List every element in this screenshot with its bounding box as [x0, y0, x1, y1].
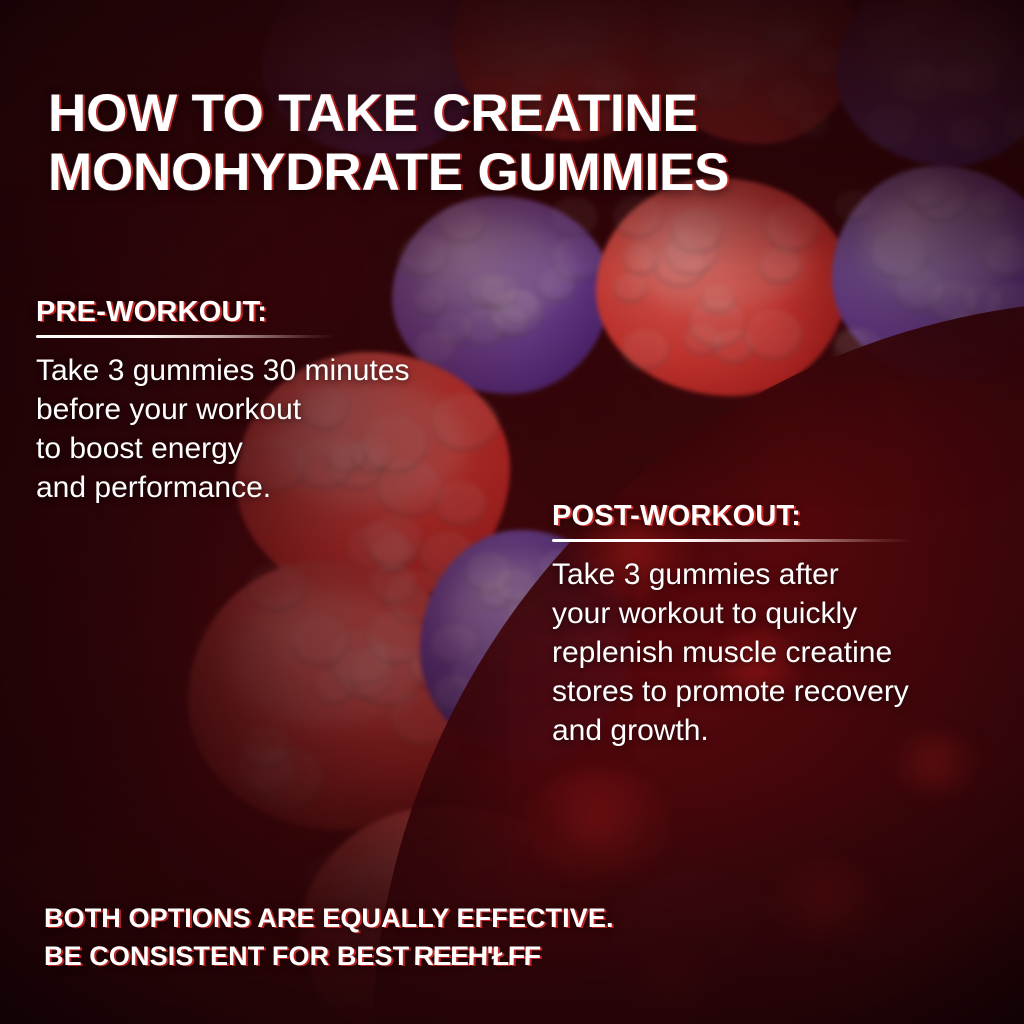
pre-workout-body-line: to boost energy — [36, 429, 536, 468]
pre-workout-body-line: Take 3 gummies 30 minutes — [36, 351, 536, 390]
post-workout-body-line: your workout to quickly — [552, 594, 1022, 633]
footer-note: BOTH OPTIONS ARE EQUALLY EFFECTIVE. BE C… — [44, 900, 1004, 976]
post-workout-heading: POST-WORKOUT: — [552, 500, 1022, 533]
footer-line-2-prefix: BE CONSISTENT FOR BEST — [44, 941, 417, 971]
pre-workout-underline — [36, 335, 336, 338]
pre-workout-block: PRE-WORKOUT: Take 3 gummies 30 minutes b… — [36, 296, 536, 507]
post-workout-body-line: stores to promote recovery — [552, 672, 1022, 711]
title-line-2: MONOHYDRATE GUMMIES — [48, 143, 928, 202]
title-line-1: HOW TO TAKE CREATINE — [48, 84, 928, 143]
poster-content: HOW TO TAKE CREATINE MONOHYDRATE GUMMIES… — [0, 0, 1024, 1024]
poster-canvas: HOW TO TAKE CREATINE MONOHYDRATE GUMMIES… — [0, 0, 1024, 1024]
footer-line-2: BE CONSISTENT FOR BEST REEH'ŁFF — [44, 938, 1004, 976]
poster-title: HOW TO TAKE CREATINE MONOHYDRATE GUMMIES — [48, 84, 928, 203]
post-workout-underline — [552, 539, 914, 542]
pre-workout-heading: PRE-WORKOUT: — [36, 296, 536, 329]
footer-line-1: BOTH OPTIONS ARE EQUALLY EFFECTIVE. — [44, 900, 1004, 938]
footer-garbled-word: REEH'ŁFF — [413, 938, 540, 976]
post-workout-block: POST-WORKOUT: Take 3 gummies after your … — [552, 500, 1022, 750]
post-workout-body-line: Take 3 gummies after — [552, 555, 1022, 594]
pre-workout-body-line: and performance. — [36, 468, 536, 507]
post-workout-body-line: replenish muscle creatine — [552, 633, 1022, 672]
pre-workout-body-line: before your workout — [36, 390, 536, 429]
post-workout-body: Take 3 gummies after your workout to qui… — [552, 555, 1022, 750]
post-workout-body-line: and growth. — [552, 711, 1022, 750]
pre-workout-body: Take 3 gummies 30 minutes before your wo… — [36, 351, 536, 507]
